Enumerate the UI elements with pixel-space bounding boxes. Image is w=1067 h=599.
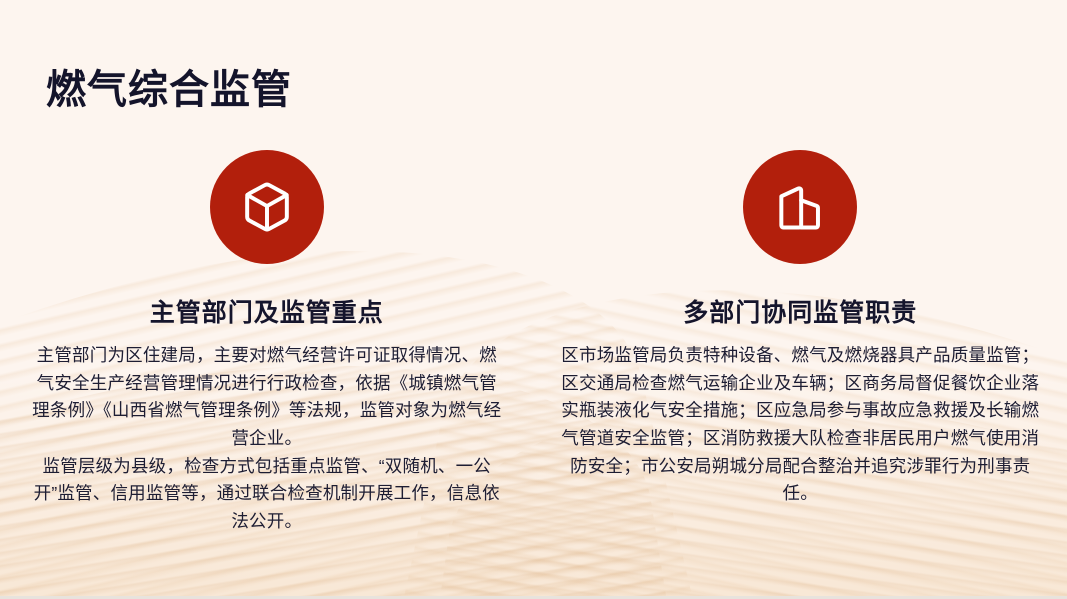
buildings-icon-badge [743,150,857,264]
card-paragraph: 区市场监管局负责特种设备、燃气及燃烧器具产品质量监管；区交通局检查燃气运输企业及… [560,342,1040,508]
card-paragraph: 主管部门为区住建局，主要对燃气经营许可证取得情况、燃气安全生产经营管理情况进行行… [32,342,502,453]
page-title: 燃气综合监管 [46,65,292,115]
cube-icon-badge [210,150,324,264]
card-supervising-department: 主管部门及监管重点 主管部门为区住建局，主要对燃气经营许可证取得情况、燃气安全生… [0,150,534,535]
card-heading: 多部门协同监管职责 [683,298,917,328]
slide-canvas: 燃气综合监管 主管部门及监管重点 主管部门为区住建局，主要对燃气经营许可证取得情… [0,0,1067,599]
buildings-icon [772,179,828,235]
card-body: 主管部门为区住建局，主要对燃气经营许可证取得情况、燃气安全生产经营管理情况进行行… [32,342,502,535]
card-paragraph: 监管层级为县级，检查方式包括重点监管、“双随机、一公开”监管、信用监管等，通过联… [32,453,502,536]
card-multi-department-duties: 多部门协同监管职责 区市场监管局负责特种设备、燃气及燃烧器具产品质量监管；区交通… [534,150,1067,535]
card-body: 区市场监管局负责特种设备、燃气及燃烧器具产品质量监管；区交通局检查燃气运输企业及… [560,342,1040,508]
cards-row: 主管部门及监管重点 主管部门为区住建局，主要对燃气经营许可证取得情况、燃气安全生… [0,150,1067,535]
card-heading: 主管部门及监管重点 [150,298,384,328]
cube-icon [239,179,295,235]
